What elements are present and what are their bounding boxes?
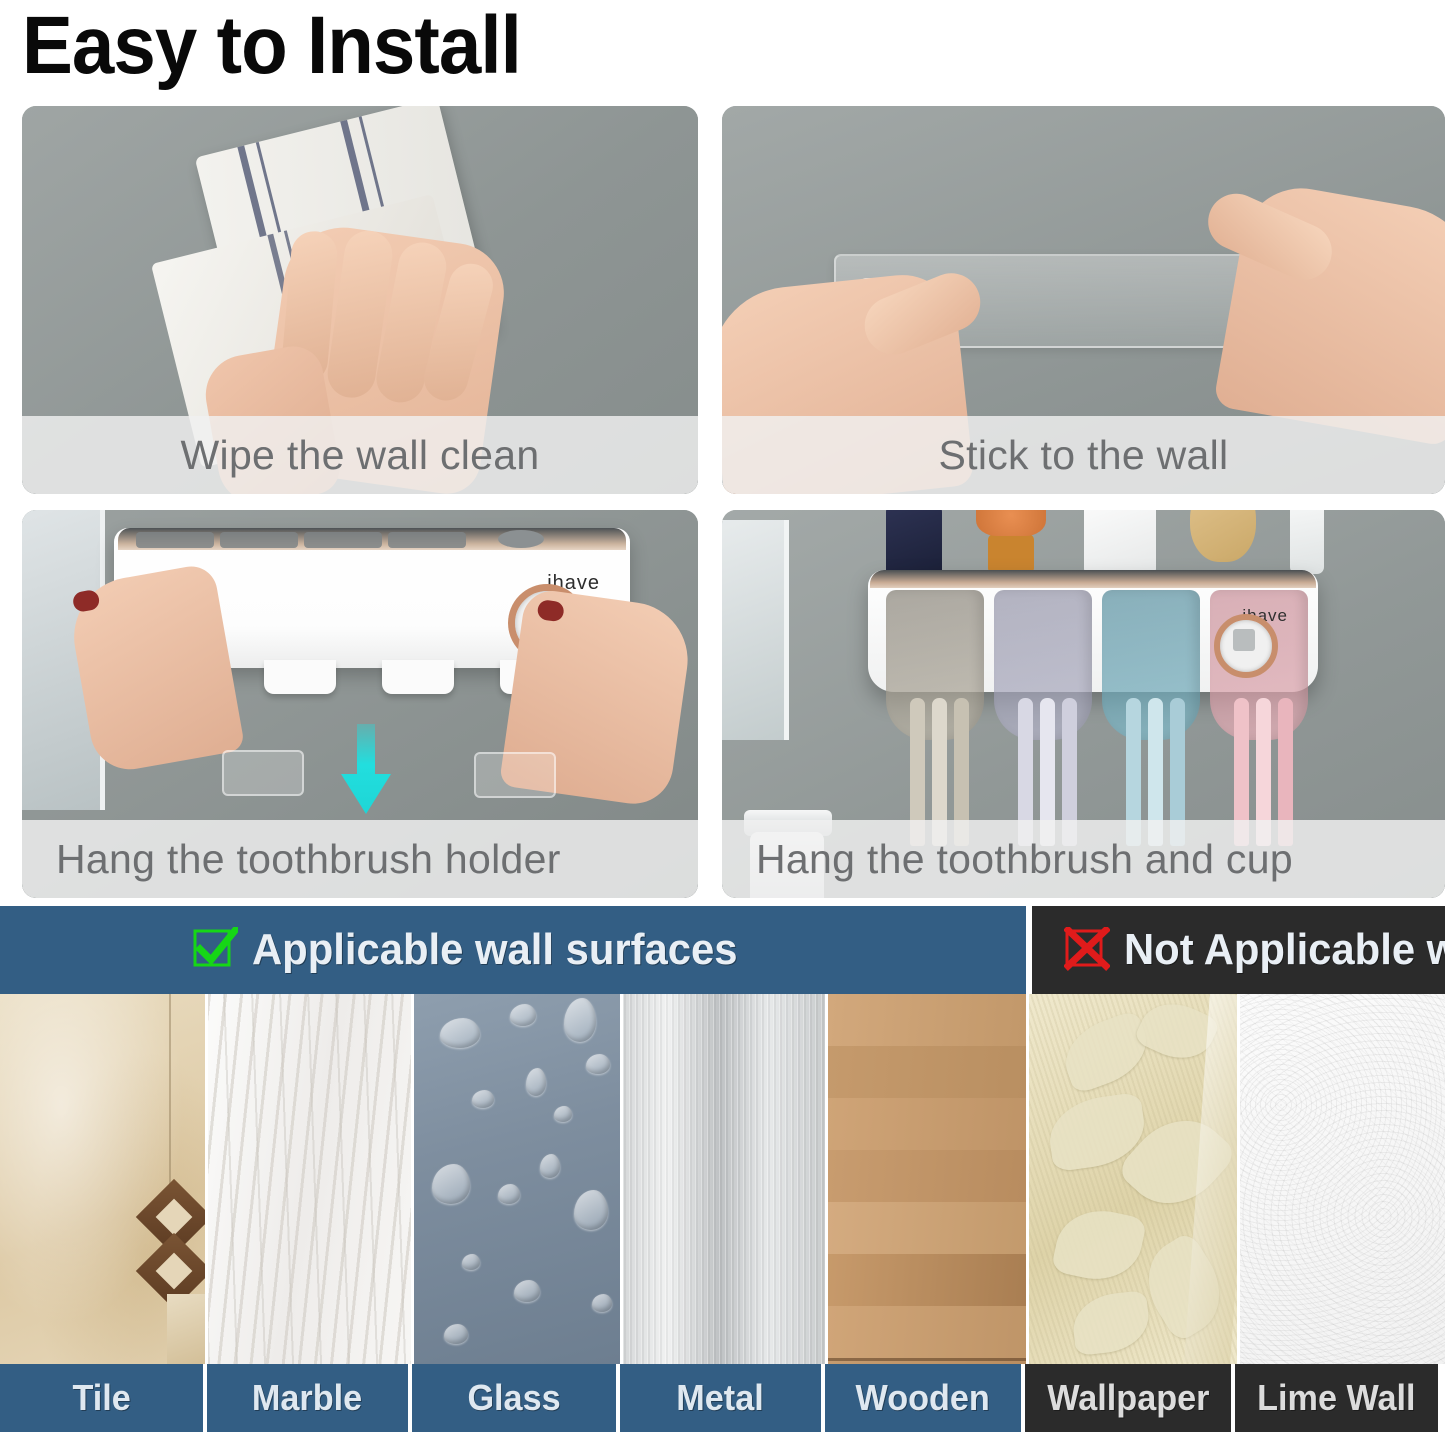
step-photo-stick-wall: Stick to the wall [722, 106, 1445, 494]
surface-label-row: Tile Marble Glass Metal Wooden Wallpaper… [0, 1364, 1445, 1432]
not-applicable-banner-label: Not Applicable wall [1124, 925, 1445, 975]
surface-swatch-tile [0, 994, 208, 1364]
applicable-banner: Applicable wall surfaces [0, 906, 1026, 994]
adhesive-pad [474, 752, 556, 798]
step-caption: Stick to the wall [722, 416, 1445, 494]
surface-label-lime-wall: Lime Wall [1235, 1364, 1442, 1432]
toothpaste-dispenser-icon [1214, 614, 1278, 678]
surface-label-glass: Glass [412, 1364, 620, 1432]
surface-label-metal: Metal [620, 1364, 825, 1432]
wall-surface-section: Applicable wall surfaces Not Applicable … [0, 906, 1445, 1432]
step-photo-hang-holder: ihave [22, 510, 698, 898]
step-caption: Hang the toothbrush and cup [722, 820, 1445, 898]
surface-label-tile: Tile [0, 1364, 207, 1432]
hand-icon [1213, 179, 1445, 447]
surface-label-wooden: Wooden [825, 1364, 1025, 1432]
step-photo-wipe-wall: Wipe the wall clean [22, 106, 698, 494]
surface-swatch-lime-wall [1240, 994, 1445, 1364]
step-photo-hang-brush-cup: ihave Hang the toothbrush and cup [722, 510, 1445, 898]
not-applicable-banner: Not Applicable wall [1032, 906, 1445, 994]
down-arrow-icon [340, 724, 392, 816]
holder-hole [498, 530, 544, 548]
install-steps-grid: Wipe the wall clean Stick to the wall ih… [0, 106, 1445, 898]
page-title: Easy to Install [22, 0, 729, 94]
mirror-edge [722, 520, 789, 740]
banner-row: Applicable wall surfaces Not Applicable … [0, 906, 1445, 994]
surface-swatch-metal [623, 994, 829, 1364]
holder-top-bar [870, 570, 1316, 588]
step-caption: Wipe the wall clean [22, 416, 698, 494]
applicable-banner-label: Applicable wall surfaces [252, 925, 738, 975]
surface-swatch-wooden [828, 994, 1029, 1364]
holder-full-icon: ihave [868, 570, 1318, 692]
surface-swatch-wallpaper [1029, 994, 1240, 1364]
green-check-box-icon [192, 927, 238, 973]
surface-swatch-row [0, 994, 1445, 1364]
vanity-items [872, 510, 1312, 574]
surface-label-marble: Marble [207, 1364, 412, 1432]
surface-label-wallpaper: Wallpaper [1025, 1364, 1235, 1432]
step-caption: Hang the toothbrush holder [22, 820, 698, 898]
surface-swatch-marble [208, 994, 414, 1364]
red-x-box-icon [1064, 927, 1110, 973]
holder-slots [136, 532, 466, 548]
surface-swatch-glass [414, 994, 623, 1364]
adhesive-pad [222, 750, 304, 796]
